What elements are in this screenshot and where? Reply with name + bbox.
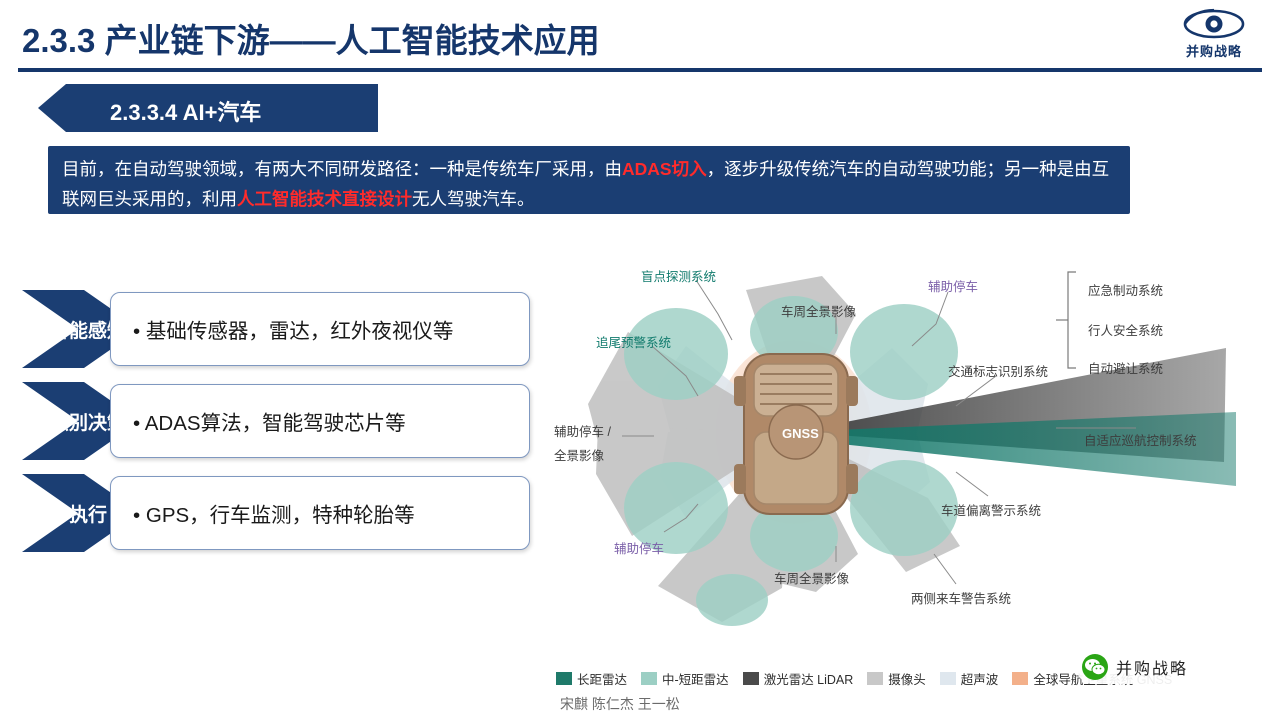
slide-header: 2.3.3 产业链下游——人工智能技术应用 并购战略	[0, 0, 1280, 74]
label-adaptive-cruise: 自适应巡航控制系统	[1084, 430, 1197, 449]
step-box-text-2: • ADAS算法，智能驾驶芯片等	[111, 406, 406, 436]
legend-label-camera: 摄像头	[888, 669, 926, 688]
label-park-assist-bottom: 辅助停车	[614, 538, 664, 557]
section-tag: 2.3.3.4 AI+汽车	[38, 84, 378, 132]
legend-label-ultrasonic: 超声波	[961, 669, 999, 688]
step-chevron-label-3: 执行	[55, 500, 107, 527]
intro-paragraph-text: 目前，在自动驾驶领域，有两大不同研发路径：一种是传统车厂采用，由ADAS切入，逐…	[62, 154, 1116, 214]
step-box-perception: • 基础传感器，雷达，红外夜视仪等	[110, 292, 530, 366]
step-box-text-3: • GPS，行车监测，特种轮胎等	[111, 498, 415, 528]
step-box-text-1: • 基础传感器，雷达，红外夜视仪等	[111, 314, 453, 344]
legend-swatch-gnss	[1012, 672, 1028, 685]
brand-logo-text: 并购战略	[1174, 41, 1254, 60]
right-bracket	[1056, 272, 1076, 368]
label-park-assist-top: 辅助停车	[928, 276, 978, 295]
sensor-coverage-graphic	[536, 236, 1252, 684]
paragraph-segment-1: 目前，在自动驾驶领域，有两大不同研发路径：一种是传统车厂采用，由	[62, 159, 622, 179]
legend-item-camera: 摄像头	[867, 669, 926, 688]
legend-swatch-long-range-radar	[556, 672, 572, 685]
sensor-coverage-diagram: 盲点探测系统 车周全景影像 辅助停车 追尾预警系统 交通标志识别系统 应急制动系…	[536, 236, 1252, 684]
page-title: 2.3.3 产业链下游——人工智能技术应用	[22, 14, 600, 62]
eye-icon	[1182, 8, 1246, 40]
step-box-decision: • ADAS算法，智能驾驶芯片等	[110, 384, 530, 458]
credits-text: 宋麒 陈仁杰 王一松	[560, 694, 680, 714]
wechat-icon	[1082, 654, 1108, 680]
wechat-badge-text: 并购战略	[1116, 655, 1188, 679]
legend-label-mid-short-radar: 中-短距雷达	[662, 669, 729, 688]
step-box-execution: • GPS，行车监测，特种轮胎等	[110, 476, 530, 550]
label-gnss-center: GNSS	[782, 426, 819, 441]
legend-item-ultrasonic: 超声波	[940, 669, 999, 688]
brand-logo: 并购战略	[1174, 8, 1254, 66]
paragraph-highlight-2: 人工智能技术直接设计	[237, 189, 412, 209]
legend-item-lidar: 激光雷达 LiDAR	[743, 669, 854, 688]
legend-swatch-mid-short-radar	[641, 672, 657, 685]
label-surround-view-bottom: 车周全景影像	[774, 568, 849, 587]
label-traffic-sign: 交通标志识别系统	[948, 361, 1048, 380]
wechat-badge: 并购战略	[1076, 650, 1264, 684]
legend-label-long-range-radar: 长距雷达	[577, 669, 627, 688]
intro-paragraph-box: 目前，在自动驾驶领域，有两大不同研发路径：一种是传统车厂采用，由ADAS切入，逐…	[48, 146, 1130, 214]
label-lane-departure: 车道偏离警示系统	[941, 500, 1041, 519]
legend-label-lidar: 激光雷达 LiDAR	[764, 669, 854, 688]
paragraph-segment-3: 无人驾驶汽车。	[412, 189, 535, 209]
legend-item-mid-short-radar: 中-短距雷达	[641, 669, 729, 688]
label-emergency-brake: 应急制动系统	[1088, 280, 1163, 299]
label-cross-traffic: 两侧来车警告系统	[911, 588, 1011, 607]
section-tag-label: 2.3.3.4 AI+汽车	[110, 95, 261, 127]
label-surround-view-top: 车周全景影像	[781, 301, 856, 320]
label-rear-collision: 追尾预警系统	[596, 332, 671, 351]
label-park-assist-left: 辅助停车 /	[554, 421, 611, 440]
label-blind-spot: 盲点探测系统	[641, 266, 716, 285]
legend-swatch-ultrasonic	[940, 672, 956, 685]
paragraph-highlight-1: ADAS切入	[622, 159, 707, 179]
label-pedestrian-safety: 行人安全系统	[1088, 320, 1163, 339]
label-auto-avoid: 自动避让系统	[1088, 358, 1163, 377]
label-surround-view-left: 全景影像	[554, 445, 604, 464]
legend-swatch-camera	[867, 672, 883, 685]
legend-item-long-range-radar: 长距雷达	[556, 669, 627, 688]
legend-swatch-lidar	[743, 672, 759, 685]
header-divider	[18, 68, 1262, 72]
